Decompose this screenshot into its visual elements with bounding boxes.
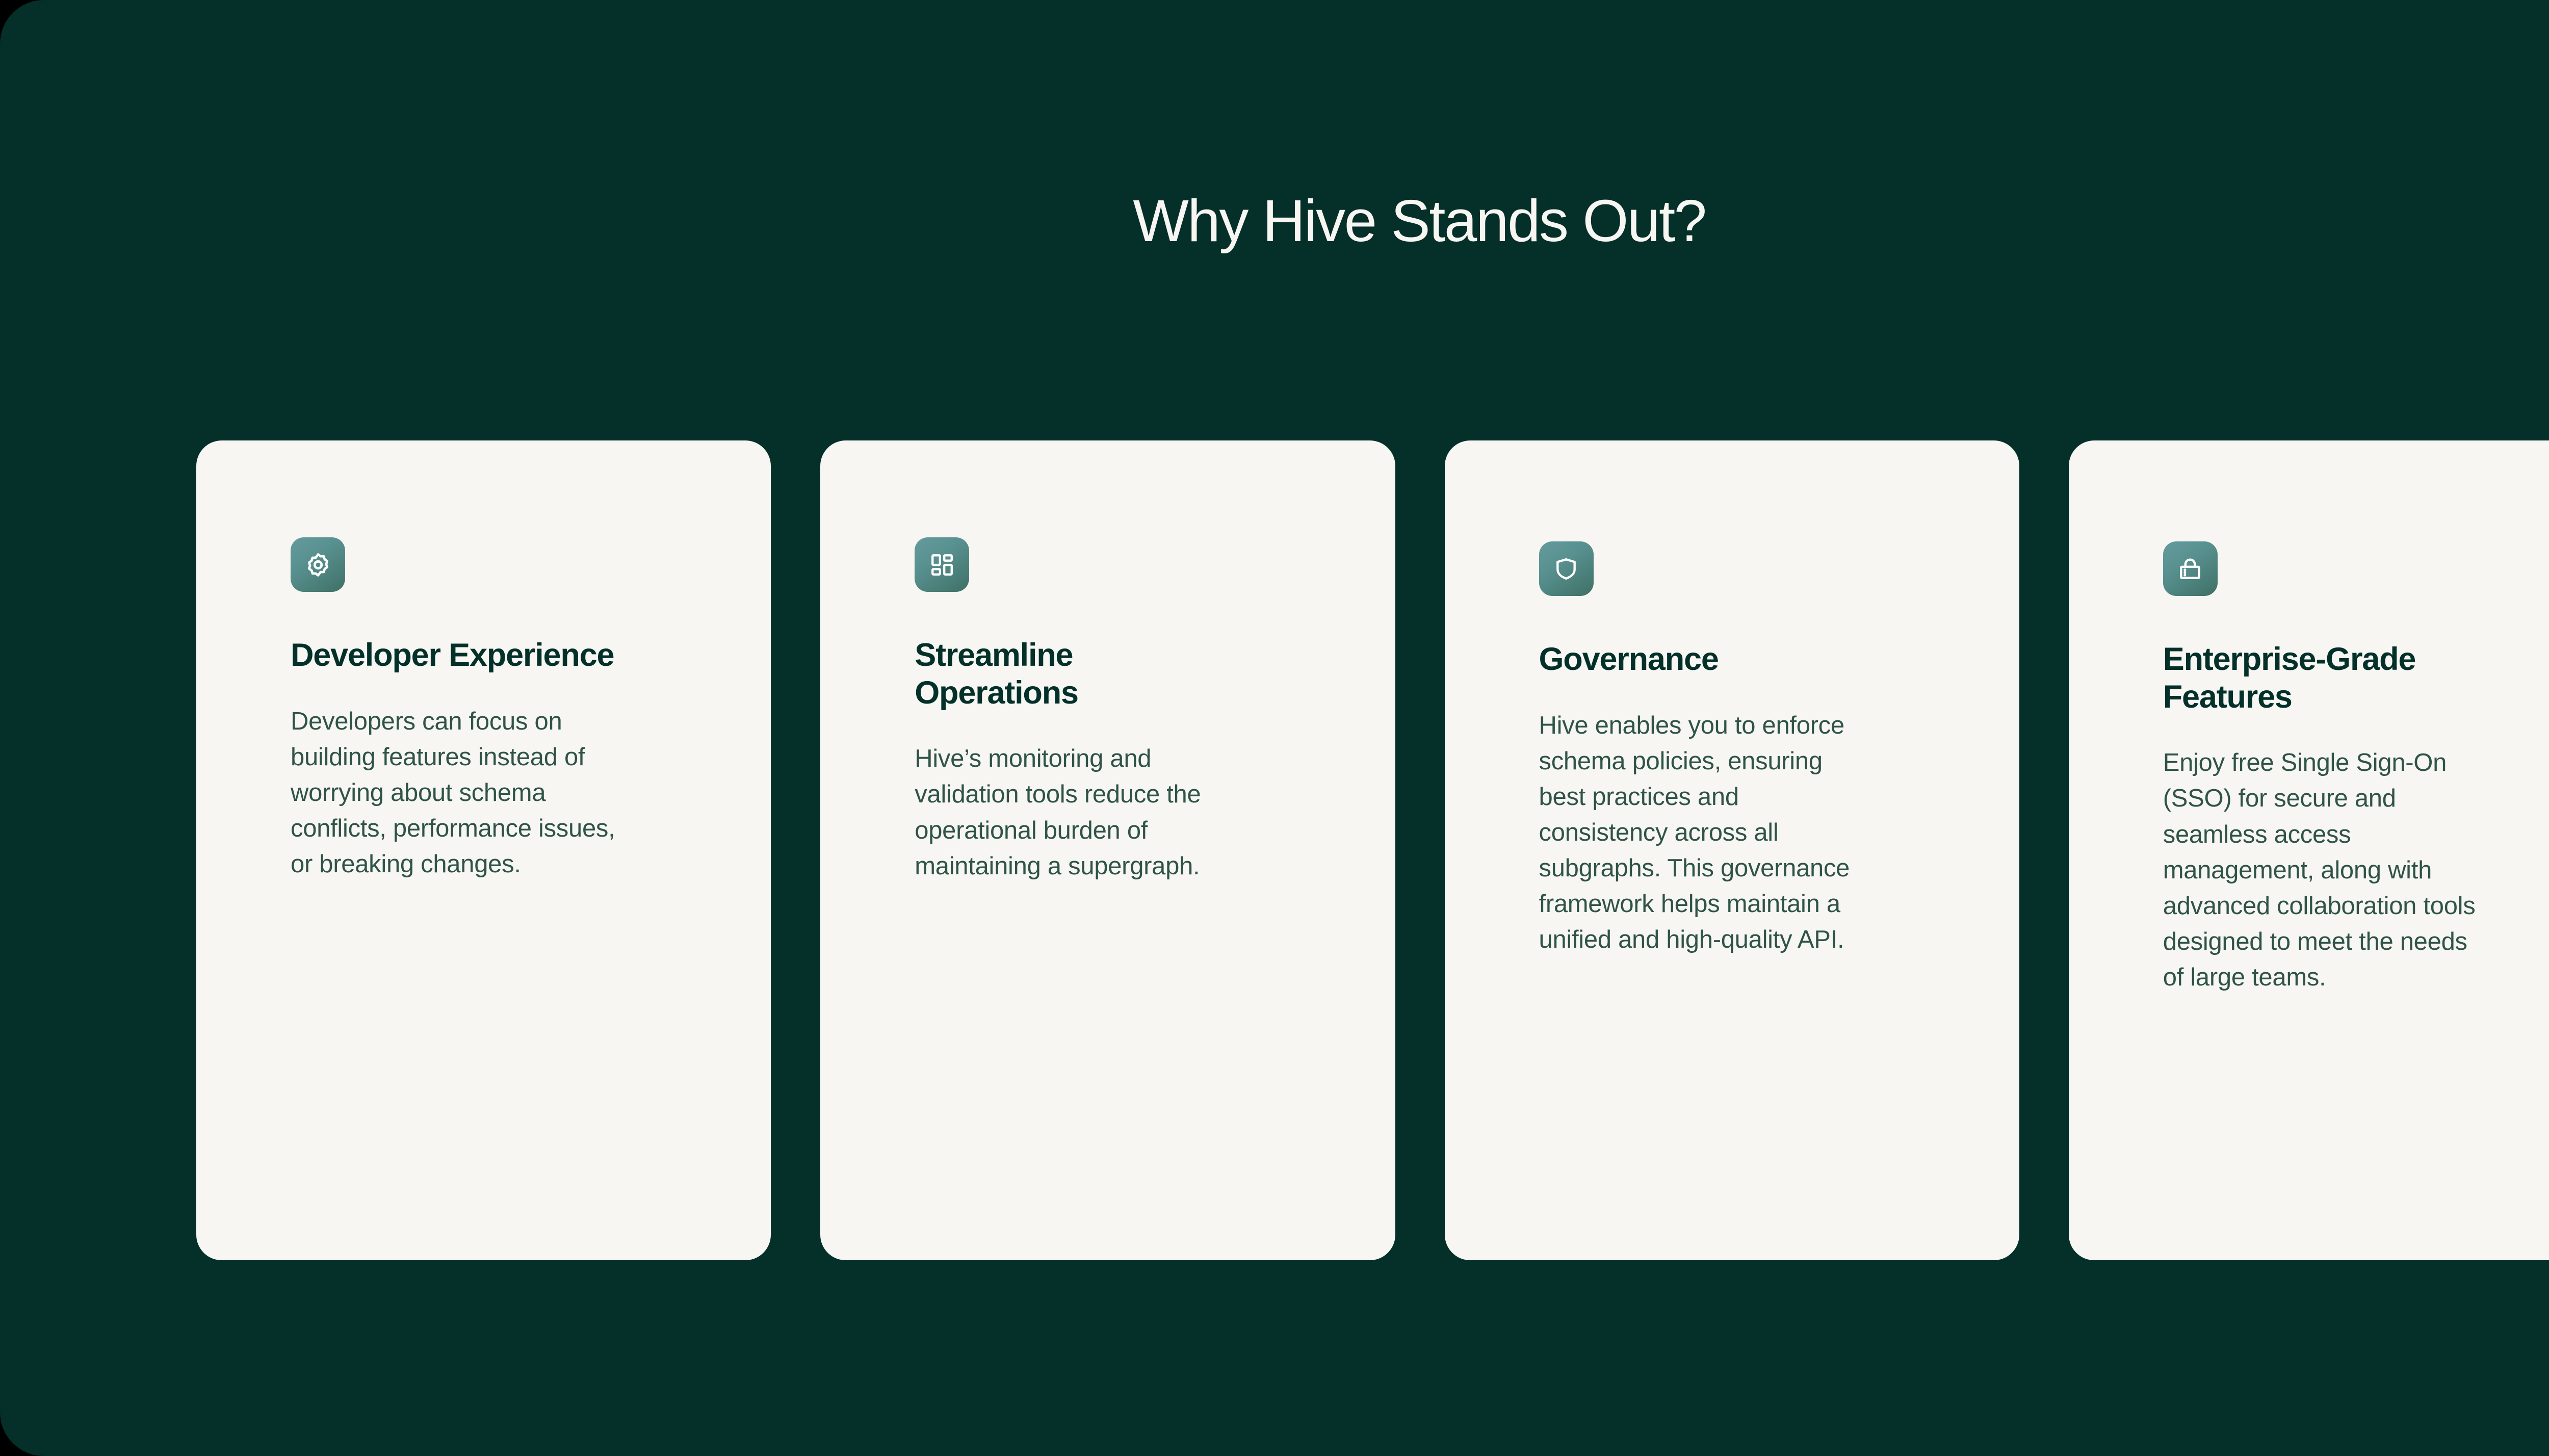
lock-icon-tile: [2163, 541, 2218, 596]
feature-section-panel: Why Hive Stands Out? Developer Experienc…: [0, 0, 2549, 1456]
feature-card-body: Hive enables you to enforce schema polic…: [1539, 708, 1865, 957]
feature-card-title: Developer Experience: [291, 637, 617, 674]
dashboard-layout-icon-tile: [915, 537, 969, 592]
feature-card-body: Enjoy free Single Sign-On (SSO) for secu…: [2163, 745, 2489, 995]
feature-card-title: Streamline Operations: [915, 637, 1241, 712]
dashboard-layout-icon: [929, 552, 955, 578]
feature-card-list: Developer Experience Developers can focu…: [196, 440, 2549, 1260]
feature-card-title: Enterprise-Grade Features: [2163, 641, 2489, 716]
feature-card-developer-experience[interactable]: Developer Experience Developers can focu…: [196, 440, 771, 1260]
settings-gear-icon-tile: [291, 537, 345, 592]
feature-card-governance[interactable]: Governance Hive enables you to enforce s…: [1445, 440, 2019, 1260]
feature-card-body: Hive’s monitoring and validation tools r…: [915, 741, 1241, 883]
feature-card-enterprise-grade-features[interactable]: Enterprise-Grade Features Enjoy free Sin…: [2069, 440, 2549, 1260]
page-title: Why Hive Stands Out?: [0, 189, 2549, 254]
feature-card-body: Developers can focus on building feature…: [291, 704, 617, 882]
feature-card-streamline-operations[interactable]: Streamline Operations Hive’s monitoring …: [820, 440, 1395, 1260]
settings-gear-icon: [304, 551, 332, 579]
feature-card-title: Governance: [1539, 641, 1865, 679]
shield-icon: [1553, 556, 1579, 582]
lock-icon: [2177, 556, 2203, 582]
shield-icon-tile: [1539, 541, 1594, 596]
screenshot-stage: Why Hive Stands Out? Developer Experienc…: [0, 0, 2549, 1456]
